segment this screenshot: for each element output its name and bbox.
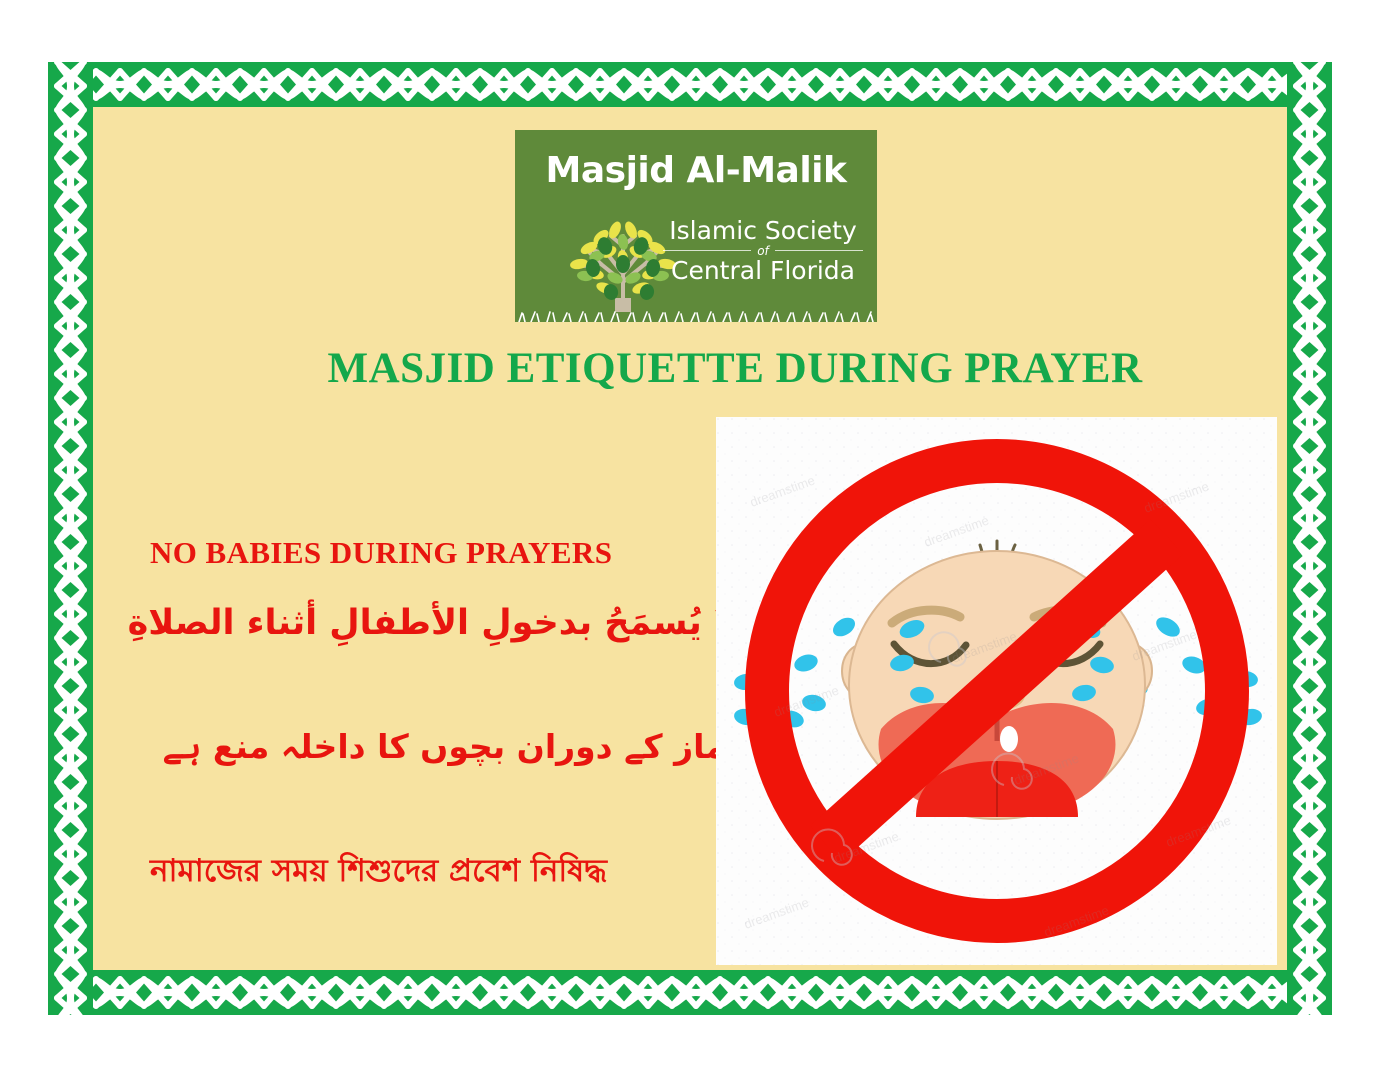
- border-pattern-right: [1287, 62, 1332, 1015]
- border-pattern-left: [48, 62, 93, 1015]
- logo-subtitle-line1: Islamic Society: [663, 218, 863, 243]
- page-title: MASJID ETIQUETTE DURING PRAYER: [138, 344, 1332, 393]
- border-pattern-top: [48, 62, 1332, 107]
- message-bengali: নামাজের সময় শিশুদের প্রবেশ নিষিদ্ধ: [150, 847, 607, 899]
- logo-title: Masjid Al-Malik: [515, 150, 877, 191]
- poster-content-area: Masjid Al-Malik: [93, 107, 1287, 970]
- logo-subtitle-line2: Central Florida: [663, 258, 863, 283]
- message-english: NO BABIES DURING PRAYERS: [150, 535, 612, 571]
- no-crying-baby-image: dreamstime dreamstime dreamstime dreamst…: [716, 417, 1277, 965]
- masjid-logo: Masjid Al-Malik: [515, 130, 877, 322]
- rule-left: [663, 250, 751, 251]
- grass-icon: [515, 306, 877, 322]
- poster-frame: Masjid Al-Malik: [48, 62, 1332, 1015]
- rule-right: [775, 250, 863, 251]
- border-pattern-bottom: [48, 970, 1332, 1015]
- message-arabic: لا يُسمَحُ بدخولِ الأطفالِ أثناء الصلاةِ: [150, 603, 740, 643]
- logo-subtitle: Islamic Society of Central Florida: [663, 218, 863, 283]
- message-urdu: نماز کے دوران بچوں کا داخلہ منع ہے: [150, 727, 740, 766]
